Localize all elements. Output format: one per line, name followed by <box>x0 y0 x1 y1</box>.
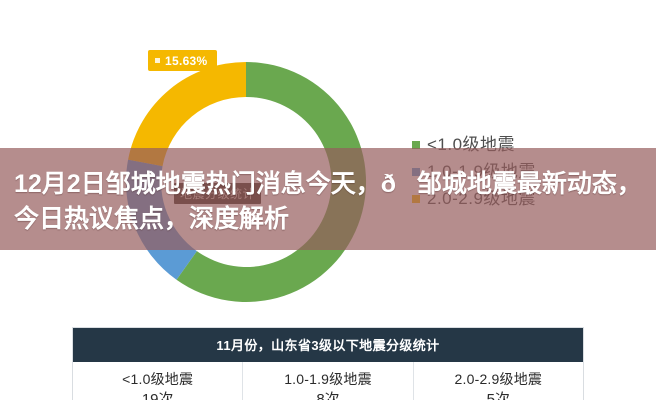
screenshot-root: 15.63% 地震分级统计 <1.0级地震 1.0-1.9级地震 2.0-2.9… <box>0 0 656 400</box>
stats-cell-value-2-to-29: 5次 <box>416 389 581 400</box>
chart-value-label: 15.63% <box>165 55 208 67</box>
stats-cell-title-1-to-19: 1.0-1.9级地震 <box>245 369 410 389</box>
statistics-table: 11月份，山东省3级以下地震分级统计 <1.0级地震 19次 1.0-1.9级地… <box>72 327 584 400</box>
stats-cell-value-lt-1: 19次 <box>75 389 240 400</box>
headline-overlay-band: 12月2日邹城地震热门消息今天，ð 邹城地震最新动态，今日热议焦点，深度解析 <box>0 148 656 250</box>
statistics-table-header: 11月份，山东省3级以下地震分级统计 <box>73 328 583 362</box>
stats-cell-title-lt-1: <1.0级地震 <box>75 369 240 389</box>
stats-cell-lt-1: <1.0级地震 19次 <box>73 362 243 400</box>
stats-cell-2-to-29: 2.0-2.9级地震 5次 <box>414 362 583 400</box>
square-marker-icon <box>155 58 160 63</box>
stats-cell-1-to-19: 1.0-1.9级地震 8次 <box>243 362 413 400</box>
chart-value-callout: 15.63% <box>148 50 217 71</box>
statistics-table-row: <1.0级地震 19次 1.0-1.9级地震 8次 2.0-2.9级地震 5次 <box>73 362 583 400</box>
headline-title: 12月2日邹城地震热门消息今天，ð 邹城地震最新动态，今日热议焦点，深度解析 <box>14 167 642 238</box>
stats-cell-value-1-to-19: 8次 <box>245 389 410 400</box>
stats-cell-title-2-to-29: 2.0-2.9级地震 <box>416 369 581 389</box>
